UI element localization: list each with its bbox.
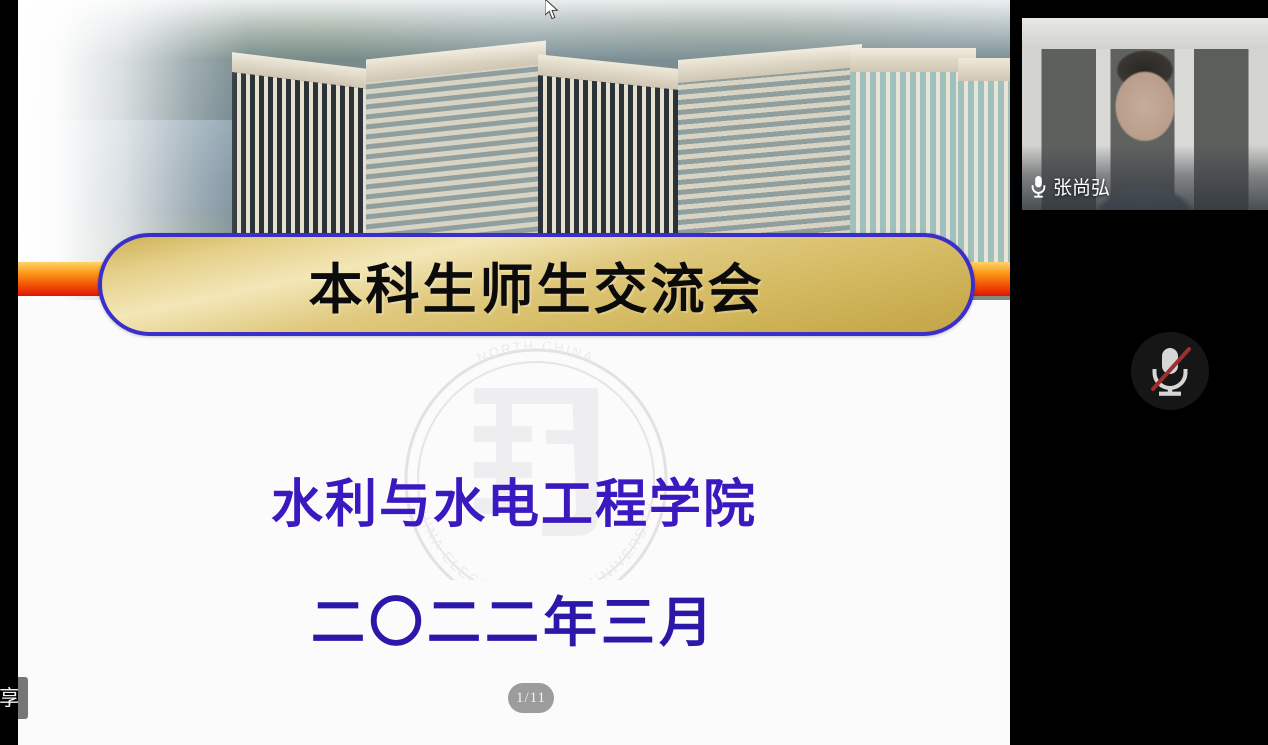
- mute-status-badge[interactable]: [1131, 332, 1209, 410]
- microphone-icon: [1030, 175, 1047, 198]
- shared-slide-content[interactable]: NORTH CHINA CHINA ELECTRIC POWER UNIVERS…: [18, 0, 1010, 745]
- slide-page-indicator: 1/11: [508, 683, 554, 713]
- slide-title-text: 本科生师生交流会: [309, 245, 765, 324]
- university-seal-watermark: NORTH CHINA CHINA ELECTRIC POWER UNIVERS…: [336, 330, 736, 580]
- mouse-cursor: [545, 0, 561, 21]
- screen-share-indicator-label: 享: [0, 676, 19, 720]
- share-panel-collapse-handle[interactable]: [18, 677, 28, 719]
- slide-title-banner: 本科生师生交流会: [98, 233, 975, 336]
- left-black-gutter: [0, 0, 18, 745]
- svg-text:NORTH CHINA: NORTH CHINA: [475, 338, 597, 366]
- participant-name-overlay: 张尚弘: [1030, 173, 1110, 200]
- slide-subtitle-text: 水利与水电工程学院: [18, 462, 1010, 537]
- microphone-muted-icon: [1149, 345, 1191, 397]
- meeting-screen-share-window: 享: [0, 0, 1268, 745]
- participant-video-tile[interactable]: 张尚弘: [1022, 18, 1268, 210]
- participant-name-label: 张尚弘: [1053, 173, 1110, 200]
- slide-date-text: 二〇二二年三月: [18, 578, 1010, 657]
